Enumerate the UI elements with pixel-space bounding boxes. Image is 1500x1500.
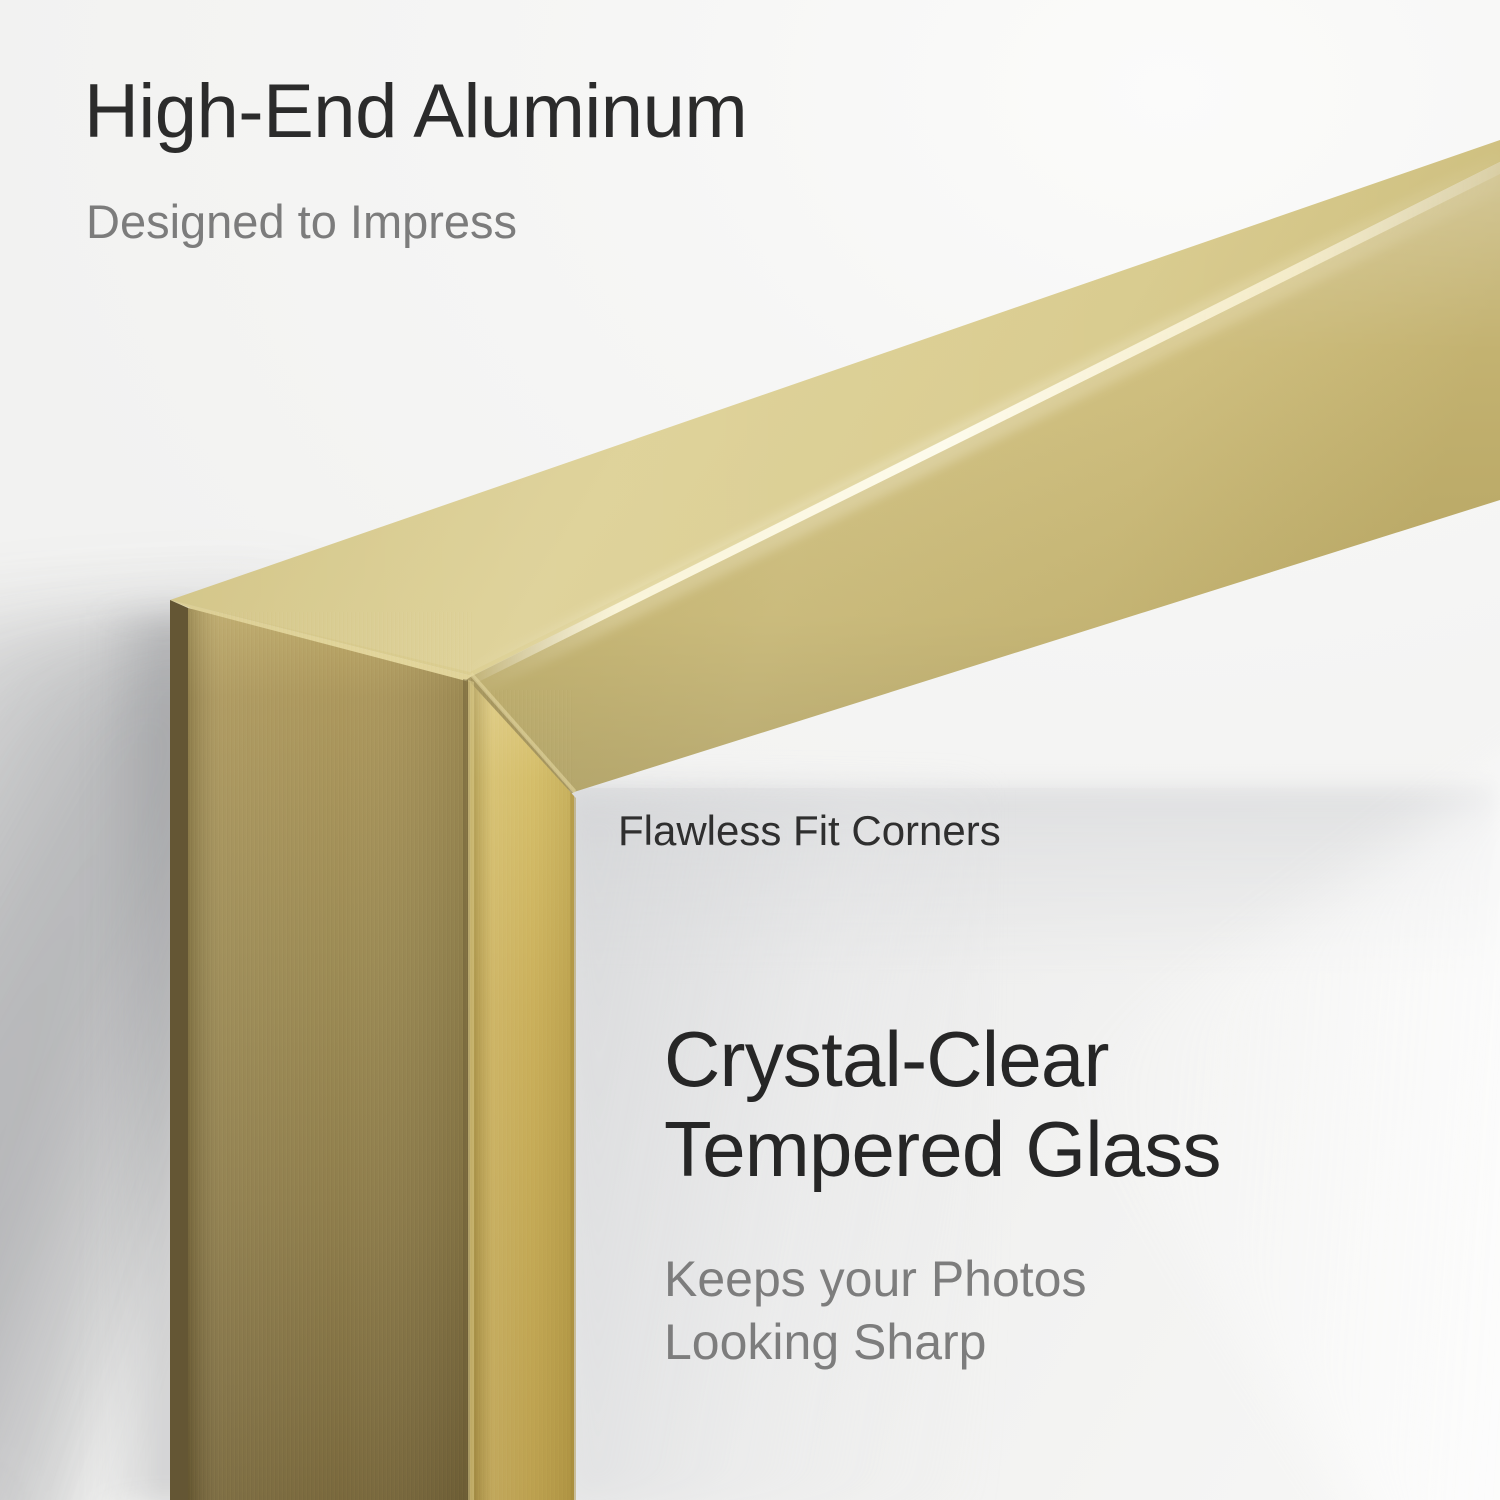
callout-tempered-glass-subtitle: Keeps your Photos Looking Sharp [664, 1248, 1087, 1374]
page-subtitle: Designed to Impress [86, 198, 517, 245]
product-feature-image: High-End Aluminum Designed to Impress Fl… [0, 0, 1500, 1500]
frame-inner-edge-to-glass [570, 792, 576, 1500]
callout-flawless-fit-corners: Flawless Fit Corners [618, 810, 1001, 852]
page-title: High-End Aluminum [84, 74, 747, 150]
frame-left-stile-ridge [468, 680, 474, 1500]
frame-left-stile-inner-shade [470, 682, 574, 1500]
frame-left-stile-ridge-dark [463, 679, 468, 1500]
callout-tempered-glass-title: Crystal-Clear Tempered Glass [664, 1014, 1221, 1195]
frame-left-stile-outer-shade [188, 608, 470, 1500]
frame-left-stile-edge-rim-shade [170, 600, 188, 1500]
